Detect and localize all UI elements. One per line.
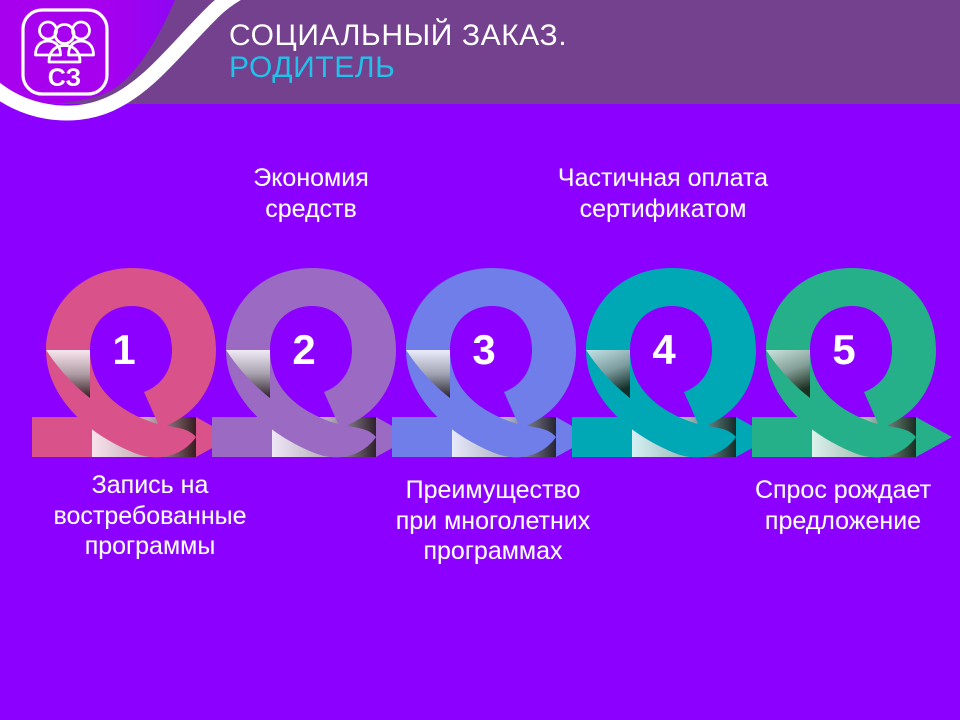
- caption-demand-line2: предложение: [718, 506, 960, 537]
- ribbon-5-tail-shadow: [812, 417, 916, 457]
- ribbon-4-loop-shadow: [586, 350, 630, 398]
- ribbon-4-number: 4: [652, 326, 676, 373]
- ribbon-4-tail: [572, 417, 772, 457]
- ribbon-2-number: 2: [292, 326, 315, 373]
- ribbon-step-1[interactable]: 1: [32, 268, 232, 457]
- ribbon-step-4[interactable]: 4: [572, 268, 772, 457]
- ribbon-step-2[interactable]: 2: [212, 268, 412, 457]
- caption-advantage-line2: при многолетних: [357, 506, 629, 537]
- ribbon-3-number: 3: [472, 326, 495, 373]
- ribbon-3-tail-shadow: [452, 417, 556, 457]
- ribbon-1-tail-shadow: [92, 417, 196, 457]
- caption-economy-line1: Экономия: [195, 163, 427, 194]
- ribbon-2-tail-shadow: [272, 417, 376, 457]
- ribbon-5-tail: [752, 417, 952, 457]
- caption-enrollment-line3: программы: [23, 531, 277, 562]
- caption-advantage-line3: программах: [357, 536, 629, 567]
- caption-enrollment-line2: востребованные: [23, 501, 277, 532]
- ribbon-2-loop: [226, 268, 396, 457]
- ribbon-2-loop-shadow: [226, 350, 270, 398]
- ribbon-5-loop: [766, 268, 936, 457]
- ribbon-1-tail: [32, 417, 232, 457]
- ribbon-4-loop: [586, 268, 756, 457]
- ribbon-2-tail: [212, 417, 412, 457]
- caption-enrollment-line1: Запись на: [23, 470, 277, 501]
- caption-enrollment: Запись на востребованные программы: [23, 470, 277, 562]
- ribbon-1-loop: [46, 268, 216, 457]
- header-title-line2: РОДИТЕЛЬ: [229, 52, 929, 84]
- logo-badge: СЗ: [20, 7, 110, 104]
- logo-text: СЗ: [48, 64, 81, 92]
- ribbon-step-5[interactable]: 5: [752, 268, 952, 457]
- caption-partial-payment: Частичная оплата сертификатом: [518, 163, 808, 224]
- caption-demand: Спрос рождает предложение: [718, 475, 960, 536]
- caption-partial-payment-line1: Частичная оплата: [518, 163, 808, 194]
- people-group-icon: [36, 22, 94, 62]
- ribbon-5-loop-shadow: [766, 350, 810, 398]
- ribbon-3-loop-shadow: [406, 350, 450, 398]
- ribbon-4-tail-shadow: [632, 417, 736, 457]
- ribbon-1-loop-shadow: [46, 350, 90, 398]
- ribbon-5-number: 5: [832, 326, 855, 373]
- caption-partial-payment-line2: сертификатом: [518, 194, 808, 225]
- ribbon-3-tail: [392, 417, 592, 457]
- ribbon-3-loop: [406, 268, 576, 457]
- caption-demand-line1: Спрос рождает: [718, 475, 960, 506]
- slide-root: СЗ СОЦИАЛЬНЫЙ ЗАКАЗ. РОДИТЕЛЬ: [0, 0, 960, 720]
- caption-advantage: Преимущество при многолетних программах: [357, 475, 629, 567]
- caption-economy-line2: средств: [195, 194, 427, 225]
- ribbon-step-3[interactable]: 3: [392, 268, 592, 457]
- header-title: СОЦИАЛЬНЫЙ ЗАКАЗ. РОДИТЕЛЬ: [229, 20, 929, 84]
- header-title-line1: СОЦИАЛЬНЫЙ ЗАКАЗ.: [229, 20, 929, 52]
- ribbon-1-number: 1: [112, 326, 135, 373]
- caption-economy: Экономия средств: [195, 163, 427, 224]
- caption-advantage-line1: Преимущество: [357, 475, 629, 506]
